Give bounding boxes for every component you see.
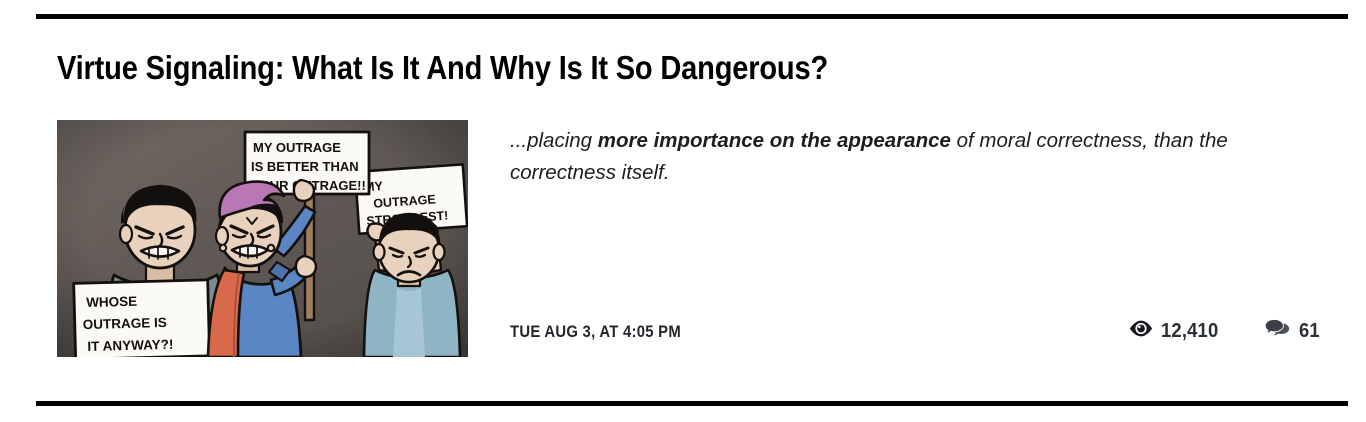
- protest-cartoon-illustration: MY OUTRAGE STRONGEST!: [57, 120, 468, 357]
- article-thumbnail-link[interactable]: MY OUTRAGE STRONGEST!: [57, 120, 468, 357]
- svg-text:IS BETTER THAN: IS BETTER THAN: [251, 159, 359, 174]
- svg-text:IT ANYWAY?!: IT ANYWAY?!: [87, 337, 173, 354]
- article-excerpt: ...placing more importance on the appear…: [510, 125, 1322, 189]
- svg-text:WHOSE: WHOSE: [86, 294, 137, 310]
- publish-date: Tue Aug 3, at 4:05 PM: [510, 323, 681, 342]
- article-meta-row: Tue Aug 3, at 4:05 PM 12,410: [510, 319, 1322, 349]
- comments-icon: [1265, 319, 1291, 343]
- svg-text:OUTRAGE IS: OUTRAGE IS: [83, 315, 167, 332]
- article-card: Virtue Signaling: What Is It And Why Is …: [36, 14, 1348, 406]
- excerpt-lead: ...placing: [510, 129, 598, 152]
- comment-count-value: 61: [1299, 320, 1320, 343]
- view-count-stat: 12,410: [1129, 320, 1223, 343]
- article-stats: 12,410 61: [1129, 319, 1322, 343]
- eye-icon: [1129, 320, 1153, 342]
- page-title[interactable]: Virtue Signaling: What Is It And Why Is …: [57, 49, 828, 87]
- comment-count-stat[interactable]: 61: [1265, 319, 1322, 343]
- excerpt-emphasis: more importance on the appearance: [598, 129, 951, 152]
- view-count-value: 12,410: [1161, 320, 1218, 343]
- svg-text:MY OUTRAGE: MY OUTRAGE: [253, 140, 341, 155]
